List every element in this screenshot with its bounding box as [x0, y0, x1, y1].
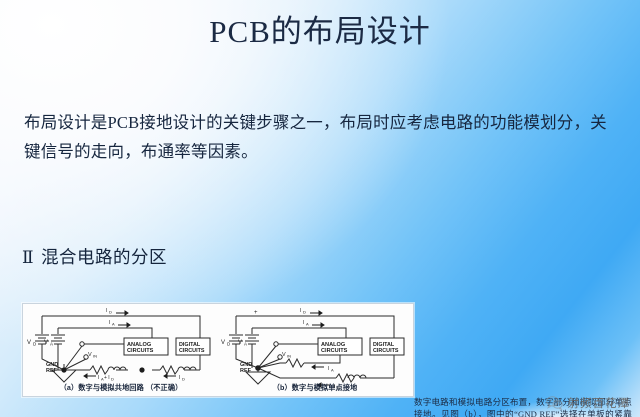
svg-text:V: V	[88, 352, 92, 358]
svg-text:V: V	[282, 352, 286, 358]
svg-text:IN: IN	[287, 354, 291, 359]
section-bullet-icon: Ⅱ	[22, 248, 34, 268]
figure-caption-b: （b）数字与模拟单点接地	[218, 383, 412, 393]
svg-text:A: A	[112, 322, 115, 327]
svg-text:+ I: + I	[104, 375, 110, 381]
svg-text:D: D	[227, 342, 231, 347]
svg-text:V: V	[238, 340, 242, 346]
svg-text:I: I	[98, 375, 99, 381]
svg-text:CIRCUITS: CIRCUITS	[373, 348, 399, 354]
svg-text:A: A	[331, 368, 334, 373]
schematic-common-ground: ID IA IA + ID ID VD VA VIN GND REF ANALO…	[24, 304, 218, 396]
svg-text:IN: IN	[93, 354, 97, 359]
svg-text:D: D	[182, 377, 185, 382]
section-heading-mixed-circuit: Ⅱ混合电路的分区	[22, 245, 640, 270]
svg-text:I: I	[300, 308, 301, 314]
svg-text:A: A	[50, 342, 53, 347]
svg-text:A: A	[244, 342, 247, 347]
section-heading-label: 混合电路的分区	[41, 247, 167, 267]
figure-caption-a: （a）数字与模拟共地回路 （不正确）	[24, 383, 218, 393]
svg-text:CIRCUITS: CIRCUITS	[179, 348, 205, 354]
svg-text:CIRCUITS: CIRCUITS	[321, 348, 348, 354]
schematic-single-point-ground: ID IA IA ID VD VA VIN GND REF ANALOG CIR…	[218, 304, 412, 396]
svg-text:D: D	[33, 342, 37, 347]
watermark-label: 射频百花潭	[568, 395, 631, 411]
svg-text:D: D	[109, 310, 112, 315]
svg-text:I: I	[328, 366, 329, 372]
svg-text:I: I	[109, 320, 110, 326]
svg-text:D: D	[111, 377, 114, 382]
svg-text:CIRCUITS: CIRCUITS	[127, 348, 154, 354]
svg-text:I: I	[303, 320, 304, 326]
svg-text:+: +	[254, 310, 258, 316]
svg-text:REF: REF	[240, 368, 252, 374]
figure-mixed-signal-grounding: ID IA IA + ID ID VD VA VIN GND REF ANALO…	[22, 303, 414, 397]
wechat-logo-icon	[546, 396, 563, 410]
slide-canvas: PCB的布局设计 布局设计是PCB接地设计的关键步骤之一，布局时应考虑电路的功能…	[0, 0, 640, 417]
svg-text:V: V	[221, 340, 225, 346]
svg-text:V: V	[44, 340, 48, 346]
svg-text:I: I	[179, 375, 180, 381]
page-title: PCB的布局设计	[0, 12, 640, 52]
svg-text:REF: REF	[46, 368, 58, 374]
svg-text:I: I	[106, 308, 107, 314]
intro-paragraph: 布局设计是PCB接地设计的关键步骤之一，布局时应考虑电路的功能模划分，关键信号的…	[24, 108, 618, 166]
svg-text:A: A	[306, 322, 309, 327]
svg-text:V: V	[27, 340, 31, 346]
watermark: 射频百花潭	[546, 395, 631, 411]
svg-text:D: D	[303, 310, 306, 315]
